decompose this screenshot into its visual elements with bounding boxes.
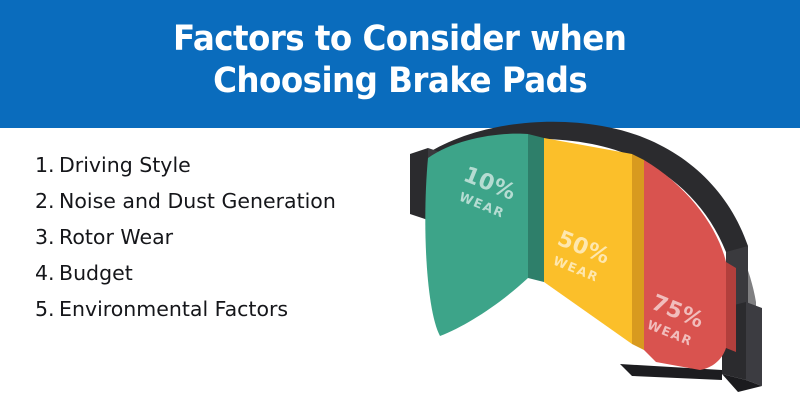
page-title-line-2: Choosing Brake Pads (213, 60, 587, 102)
list-item: 5. Environmental Factors (35, 291, 435, 327)
list-item-label: Noise and Dust Generation (59, 183, 336, 219)
segment-50-edge (632, 154, 644, 350)
brake-pad-illustration: 10% WEAR 50% WEAR 75% WEAR (404, 112, 800, 400)
page-title-line-1: Factors to Consider when (173, 18, 626, 60)
list-item: 4. Budget (35, 255, 435, 291)
backing-plate-right-tab-face (746, 302, 762, 386)
list-item-number: 3. (35, 219, 59, 255)
header-banner: Factors to Consider when Choosing Brake … (0, 0, 800, 128)
list-item-number: 5. (35, 291, 59, 327)
list-item-label: Driving Style (59, 147, 191, 183)
backing-plate-left-tab (410, 148, 428, 220)
list-item: 3. Rotor Wear (35, 219, 435, 255)
segment-10-edge (528, 134, 544, 282)
list-item-label: Rotor Wear (59, 219, 173, 255)
list-item: 1. Driving Style (35, 147, 435, 183)
list-item-number: 4. (35, 255, 59, 291)
list-item-number: 1. (35, 147, 59, 183)
segment-75-edge (726, 262, 736, 352)
segment-10-face (425, 134, 528, 336)
list-item: 2. Noise and Dust Generation (35, 183, 435, 219)
list-item-label: Budget (59, 255, 133, 291)
list-item-number: 2. (35, 183, 59, 219)
factors-list: 1. Driving Style 2. Noise and Dust Gener… (35, 147, 435, 327)
list-item-label: Environmental Factors (59, 291, 288, 327)
infographic-page: Factors to Consider when Choosing Brake … (0, 0, 800, 400)
